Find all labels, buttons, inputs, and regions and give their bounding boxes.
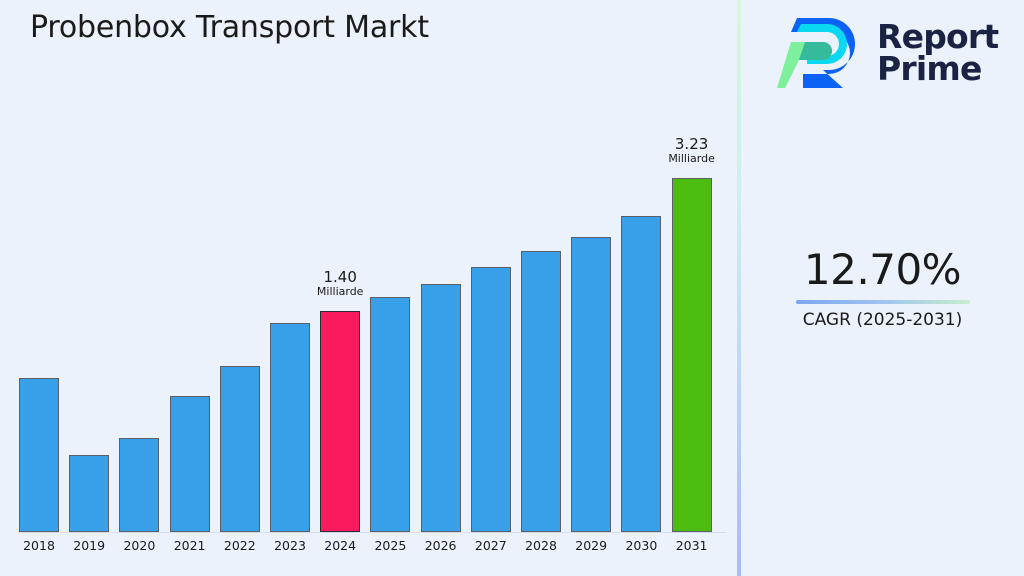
bar-rect-2027[interactable] xyxy=(471,267,511,532)
bar-2029[interactable] xyxy=(571,237,611,532)
bar-rect-2021[interactable] xyxy=(170,396,210,532)
bar-value-unit-2031: Milliarde xyxy=(637,153,747,166)
bar-2030[interactable] xyxy=(621,216,661,532)
x-axis-line xyxy=(18,532,726,533)
bar-2022[interactable] xyxy=(220,366,260,532)
bar-rect-2024[interactable] xyxy=(320,311,360,532)
brand-name: Report Prime xyxy=(877,21,998,86)
bar-value-2024: 1.40 xyxy=(285,269,395,286)
chart-panel: Probenbox Transport Markt 20182019202020… xyxy=(0,0,737,576)
bar-2019[interactable] xyxy=(69,455,109,532)
bar-2024[interactable] xyxy=(320,311,360,532)
bar-rect-2019[interactable] xyxy=(69,455,109,532)
bar-rect-2031[interactable] xyxy=(672,178,712,532)
screenshot-root: Probenbox Transport Markt 20182019202020… xyxy=(0,0,1024,576)
bar-rect-2028[interactable] xyxy=(521,251,561,532)
bar-value-label-2031: 3.23Milliarde xyxy=(637,136,747,166)
cagr-caption: CAGR (2025-2031) xyxy=(741,310,1024,330)
bar-rect-2030[interactable] xyxy=(621,216,661,532)
bar-2021[interactable] xyxy=(170,396,210,532)
bar-rect-2023[interactable] xyxy=(270,323,310,532)
bar-2031[interactable] xyxy=(672,178,712,532)
cagr-block: 12.70% CAGR (2025-2031) xyxy=(741,248,1024,330)
bar-value-label-2024: 1.40Milliarde xyxy=(285,269,395,299)
brand-name-line2: Prime xyxy=(877,53,998,85)
cagr-value: 12.70% xyxy=(741,248,1024,292)
bar-2025[interactable] xyxy=(370,297,410,532)
brand-logo[interactable]: Report Prime xyxy=(777,12,998,94)
bar-2027[interactable] xyxy=(471,267,511,532)
bar-rect-2022[interactable] xyxy=(220,366,260,532)
bar-rect-2020[interactable] xyxy=(119,438,159,532)
bar-2018[interactable] xyxy=(19,378,59,532)
bar-2028[interactable] xyxy=(521,251,561,532)
bar-rect-2026[interactable] xyxy=(421,284,461,532)
brand-panel: Report Prime 12.70% CAGR (2025-2031) xyxy=(741,0,1024,576)
bar-value-2031: 3.23 xyxy=(637,136,747,153)
bar-2020[interactable] xyxy=(119,438,159,532)
x-tick-2031: 2031 xyxy=(662,538,722,553)
bar-2023[interactable] xyxy=(270,323,310,532)
report-prime-logo-icon xyxy=(777,12,865,94)
bar-2026[interactable] xyxy=(421,284,461,532)
cagr-divider-rule xyxy=(796,300,970,304)
bar-rect-2029[interactable] xyxy=(571,237,611,532)
bar-rect-2025[interactable] xyxy=(370,297,410,532)
bar-chart-plot: 2018201920202021202220231.40Milliarde202… xyxy=(0,0,737,576)
bar-rect-2018[interactable] xyxy=(19,378,59,532)
